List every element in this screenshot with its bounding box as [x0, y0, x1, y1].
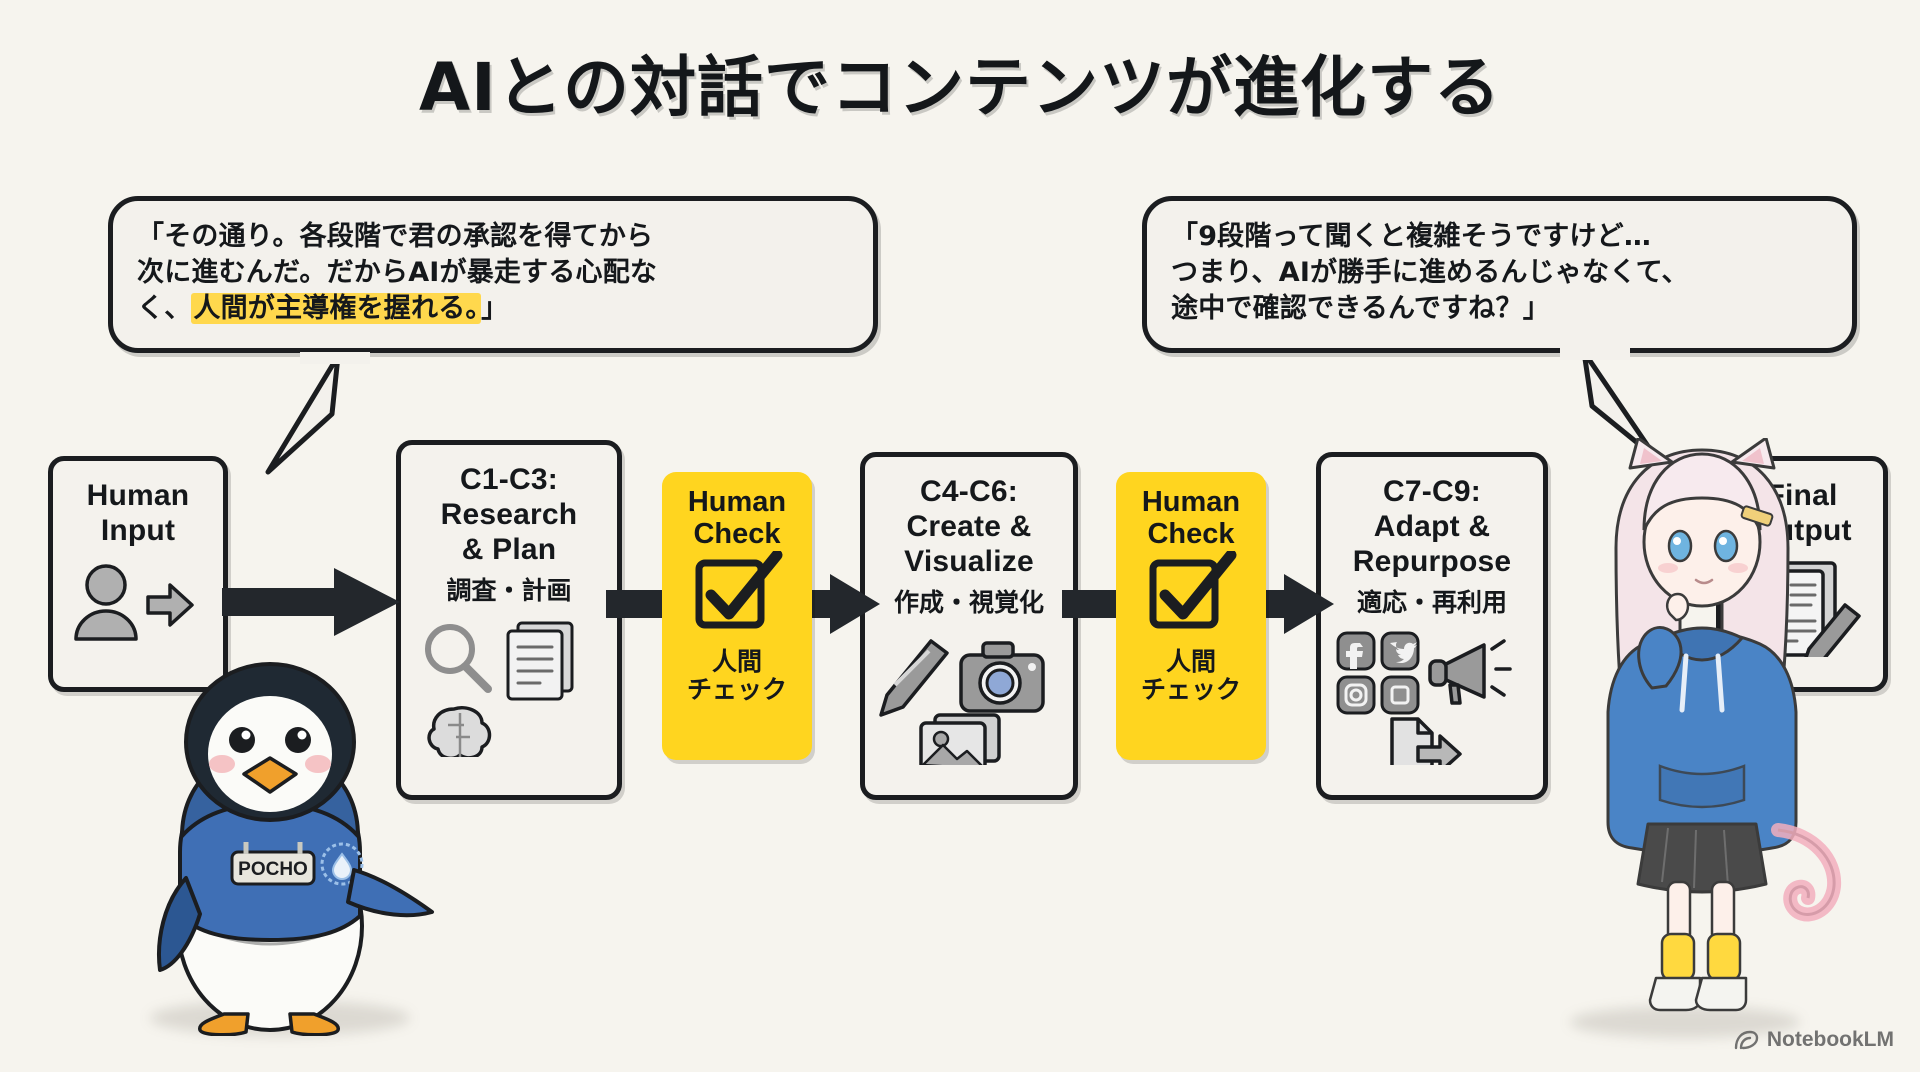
speech-tail-penguin [240, 352, 390, 482]
flow-arrow-1 [222, 566, 402, 643]
c7c9-label-1: C7-C9: [1383, 475, 1481, 508]
image-icon [921, 715, 999, 765]
flow-node-c4-c6[interactable]: C4-C6: Create & Visualize 作成・視覚化 [860, 452, 1078, 800]
flow-node-human-check-1[interactable]: Human Check 人間 チェック [662, 472, 812, 760]
flow-arrow-5 [1254, 572, 1334, 641]
notebooklm-watermark-label: NotebookLM [1767, 1028, 1894, 1052]
speech-bubble-penguin: 「その通り。各段階で君の承認を得てから 次に進むんだ。だからAIが暴走する心配な… [108, 196, 878, 353]
document-icon [508, 623, 572, 699]
c4c6-icons [879, 629, 1059, 770]
check2-label-jp: 人間 チェック [1141, 648, 1241, 704]
infographic-canvas: AIとの対話でコンテンツが進化する 「その通り。各段階で君の承認を得てから 次に… [0, 0, 1920, 1072]
check1-jp-2: チェック [687, 675, 787, 704]
flow-node-c7-c9[interactable]: C7-C9: Adapt & Repurpose 適応・再利用 [1316, 452, 1548, 800]
c1c3-label-3: & Plan [462, 533, 557, 566]
bubble-left-closing: 」 [481, 293, 508, 324]
bubble-left-highlight: 人間が主導権を握れる。 [191, 293, 481, 324]
human-input-label-2: Input [101, 514, 175, 547]
character-penguin: POCHO [128, 646, 458, 1036]
c7c9-label-2: Adapt & [1374, 510, 1490, 543]
character-catgirl [1556, 438, 1846, 1030]
speech-bubble-catgirl: 「9段階って聞くと複雑そうですけど… つまり、AIが勝手に進めるんじゃなくて、 … [1142, 196, 1857, 353]
bubble-right-line-1: 「9段階って聞くと複雑そうですけど… [1171, 221, 1651, 252]
bubble-left-line-2: 次に進むんだ。だからAIが暴走する心配な [137, 257, 657, 288]
penguin-name-text: POCHO [238, 859, 308, 880]
megaphone-icon [1430, 641, 1510, 703]
human-input-label-1: Human [87, 479, 190, 512]
c1c3-label-jp: 調査・計画 [446, 571, 571, 607]
check1-jp-1: 人間 [712, 647, 762, 676]
bubble-left-line-1: 「その通り。各段階で君の承認を得てから [137, 221, 653, 252]
bubble-right-line-3: 途中で確認できるんですね？」 [1171, 293, 1550, 324]
c4c6-label-3: Visualize [904, 545, 1034, 578]
social-icons [1338, 633, 1418, 713]
page-title: AIとの対話でコンテンツが進化する [0, 34, 1920, 130]
human-input-icons [68, 559, 208, 650]
check1-label-2: Check [693, 518, 780, 550]
check2-icon [1143, 551, 1239, 642]
notebooklm-watermark: NotebookLM [1733, 1028, 1894, 1052]
notebooklm-logo-icon [1733, 1029, 1759, 1051]
c4c6-label-jp: 作成・視覚化 [894, 583, 1044, 619]
check1-icon [689, 551, 785, 642]
check1-label-1: Human [688, 486, 786, 518]
c7c9-icons [1332, 629, 1532, 770]
c7c9-label-jp: 適応・再利用 [1357, 583, 1507, 619]
arrow-right-icon [148, 585, 192, 625]
file-export-icon [1392, 719, 1460, 765]
camera-icon [961, 643, 1043, 711]
check1-label-jp: 人間 チェック [687, 648, 787, 704]
c7c9-label-3: Repurpose [1353, 545, 1512, 578]
check2-label-2: Check [1147, 518, 1234, 550]
c4c6-label-1: C4-C6: [920, 475, 1018, 508]
bubble-right-line-2: つまり、AIが勝手に進めるんじゃなくて、 [1171, 257, 1689, 288]
bubble-left-line-3: く、 [137, 293, 191, 324]
c1c3-label-2: Research [441, 498, 578, 531]
pen-icon [881, 641, 947, 715]
check2-label-1: Human [1142, 486, 1240, 518]
person-icon [76, 566, 136, 639]
c4c6-label-2: Create & [907, 510, 1032, 543]
flow-node-human-check-2[interactable]: Human Check 人間 チェック [1116, 472, 1266, 760]
c1c3-label-1: C1-C3: [460, 463, 558, 496]
flow-arrow-3 [800, 572, 880, 641]
check2-jp-1: 人間 [1166, 647, 1216, 676]
check2-jp-2: チェック [1141, 675, 1241, 704]
